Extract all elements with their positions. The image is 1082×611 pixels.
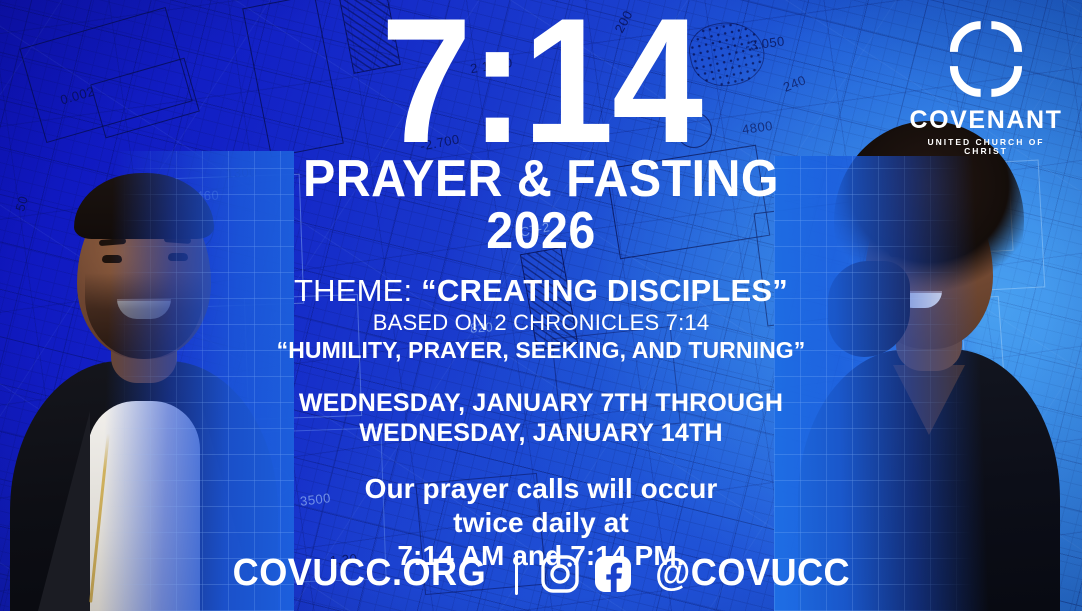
prayer-call-line-1: Our prayer calls will occur xyxy=(221,472,861,506)
theme-pillars: “HUMILITY, PRAYER, SEEKING, AND TURNING” xyxy=(221,338,861,363)
website-url[interactable]: COVUCC.ORG xyxy=(233,552,486,595)
prayer-call-line-2: twice daily at xyxy=(221,506,861,540)
headline-subtitle: PRAYER & FASTING 2026 xyxy=(243,153,838,257)
social-handle[interactable]: @COVUCC xyxy=(655,552,850,595)
theme-line: THEME: “CREATING DISCIPLES” xyxy=(221,275,861,308)
headline-time: 7:14 xyxy=(247,4,836,157)
event-date-line-2: WEDNESDAY, JANUARY 14TH xyxy=(221,419,861,449)
logo-tagline: UNITED CHURCH OF CHRIST xyxy=(906,138,1066,155)
poster-canvas: -3.0502 14002404800-2.700130020096019004… xyxy=(0,0,1082,611)
scripture-reference: BASED ON 2 CHRONICLES 7:14 xyxy=(221,311,861,335)
event-date-line-1: WEDNESDAY, JANUARY 7TH THROUGH xyxy=(221,389,861,419)
main-copy: 7:14 PRAYER & FASTING 2026 THEME: “CREAT… xyxy=(221,0,861,573)
footer-bar: COVUCC.ORG @COVUCC xyxy=(0,552,1082,595)
logo-wordmark: COVENANT xyxy=(906,108,1066,133)
facebook-icon[interactable] xyxy=(593,554,633,594)
footer-divider xyxy=(515,553,518,595)
covenant-cross-mark-icon xyxy=(940,18,1032,100)
theme-label: THEME: xyxy=(294,273,412,308)
instagram-icon[interactable] xyxy=(540,554,580,594)
theme-value: “CREATING DISCIPLES” xyxy=(421,273,788,308)
event-dates: WEDNESDAY, JANUARY 7TH THROUGH WEDNESDAY… xyxy=(221,389,861,448)
covenant-logo: COVENANT UNITED CHURCH OF CHRIST xyxy=(906,18,1066,155)
social-links: @COVUCC xyxy=(540,552,855,595)
